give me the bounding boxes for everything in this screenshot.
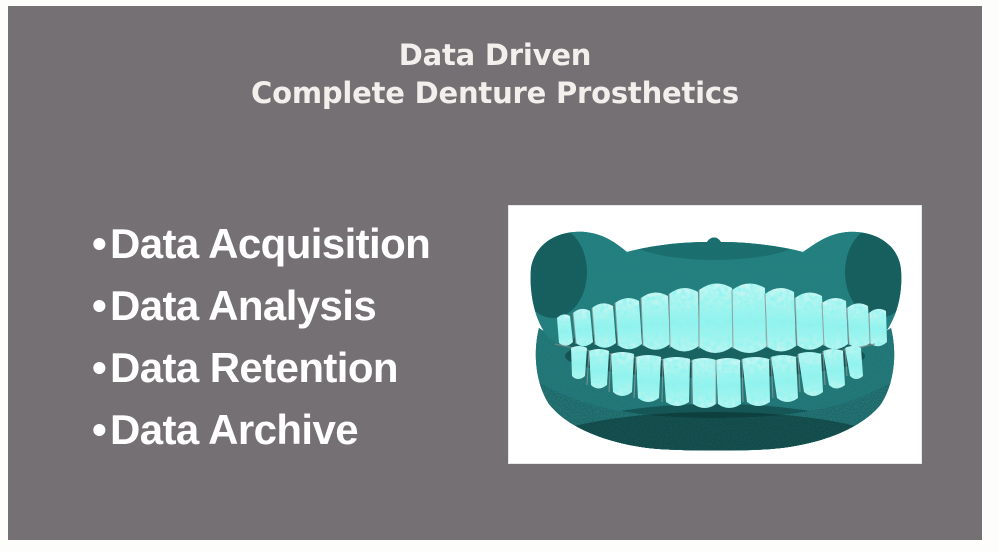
slide-canvas: Data Driven Complete Denture Prosthetics… [8,6,982,540]
denture-scan-image [508,205,922,464]
bullet-label-data-retention: Data Retention [110,344,398,392]
list-item: • Data Acquisition [92,220,512,282]
bullet-label-data-acquisition: Data Acquisition [110,220,430,268]
title-line-1: Data Driven [8,38,982,72]
bullet-list: • Data Acquisition • Data Analysis • Dat… [92,220,512,468]
slide-title: Data Driven Complete Denture Prosthetics [8,38,982,110]
bullet-marker-icon: • [92,285,110,327]
bullet-marker-icon: • [92,409,110,451]
list-item: • Data Retention [92,344,512,406]
bullet-marker-icon: • [92,223,110,265]
slide-frame: Data Driven Complete Denture Prosthetics… [0,0,999,552]
title-line-2: Complete Denture Prosthetics [8,76,982,110]
bullet-marker-icon: • [92,347,110,389]
bullet-label-data-analysis: Data Analysis [110,282,376,330]
bullet-label-data-archive: Data Archive [110,406,358,454]
list-item: • Data Analysis [92,282,512,344]
list-item: • Data Archive [92,406,512,468]
denture-scan-illustration [509,206,921,463]
denture-scan-stage [509,206,921,463]
